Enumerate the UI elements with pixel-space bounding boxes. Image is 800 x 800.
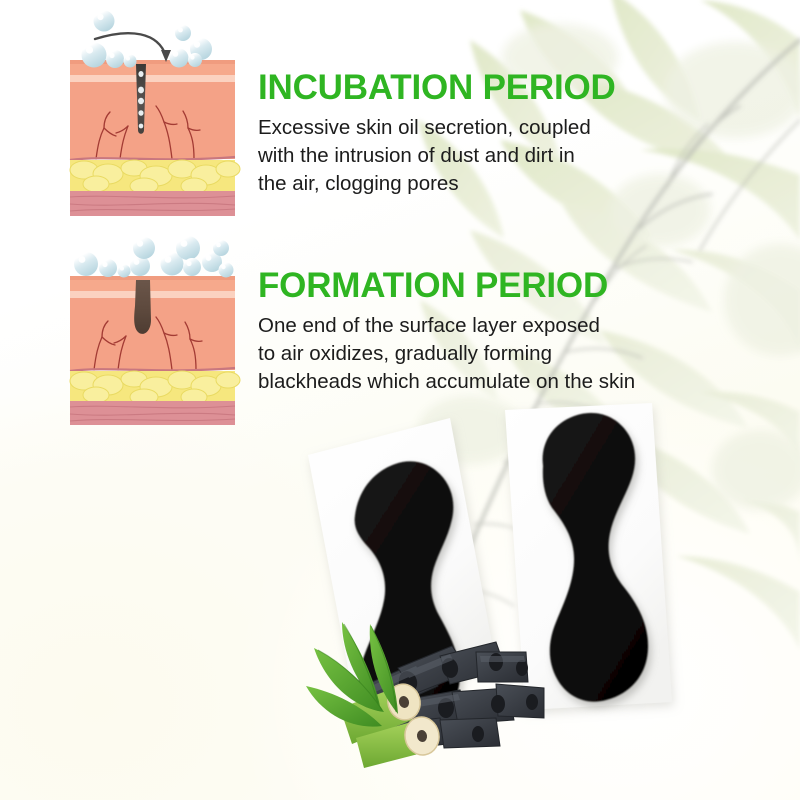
- body-line: with the intrusion of dust and dirt in: [258, 142, 678, 170]
- body-line: blackheads which accumulate on the skin: [258, 368, 708, 396]
- incubation-period-text-block: INCUBATION PERIOD Excessive skin oil sec…: [258, 70, 678, 198]
- formation-period-body: One end of the surface layer exposed to …: [258, 312, 708, 396]
- body-line: One end of the surface layer exposed: [258, 312, 708, 340]
- skin-block: [70, 276, 235, 370]
- incubation-period-body: Excessive skin oil secretion, coupled wi…: [258, 114, 678, 198]
- blackhead-plug: [134, 280, 151, 334]
- oil-bubbles: [82, 11, 213, 69]
- body-line: to air oxidizes, gradually forming: [258, 340, 708, 368]
- infographic-canvas: INCUBATION PERIOD Excessive skin oil sec…: [0, 0, 800, 800]
- skin-cross-section-clogged-pore-illustration: [60, 2, 245, 224]
- body-line: Excessive skin oil secretion, coupled: [258, 114, 678, 142]
- formation-period-text-block: FORMATION PERIOD One end of the surface …: [258, 268, 708, 396]
- subcutaneous-fat-layer: [70, 160, 240, 194]
- incubation-period-heading: INCUBATION PERIOD: [258, 70, 678, 105]
- muscle-layer: [70, 401, 235, 425]
- formation-period-heading: FORMATION PERIOD: [258, 268, 708, 303]
- skin-cross-section-blackhead-illustration: [60, 236, 245, 432]
- product-photo-area: [300, 400, 800, 800]
- subcutaneous-fat-layer: [70, 371, 240, 405]
- muscle-layer: [70, 191, 235, 216]
- oil-bubbles: [74, 236, 234, 278]
- skin-block: [70, 60, 235, 159]
- body-line: the air, clogging pores: [258, 170, 678, 198]
